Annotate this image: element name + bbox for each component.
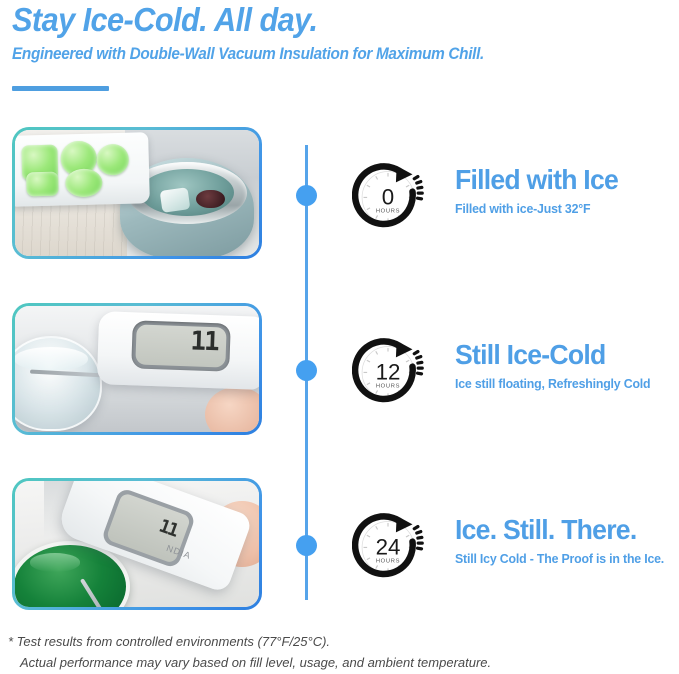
page-subtitle: Engineered with Double-Wall Vacuum Insul… bbox=[12, 44, 621, 64]
timeline-dot-2 bbox=[296, 360, 317, 381]
timer-clock-icon: 12 HOURS bbox=[352, 335, 424, 407]
clock-hours-unit: HOURS bbox=[376, 559, 400, 565]
ice-cube bbox=[26, 171, 59, 196]
footer-disclaimer: * Test results from controlled environme… bbox=[8, 631, 668, 673]
photo-thermometer-glass: 11 bbox=[15, 306, 259, 432]
photo-ice-tray-tumbler bbox=[15, 130, 259, 256]
clock-hours-unit: HOURS bbox=[376, 384, 400, 390]
ice-cube-tray bbox=[15, 132, 150, 206]
header: Stay Ice-Cold. All day. Engineered with … bbox=[12, 2, 667, 64]
benefit-text-block: Filled with Ice Filled with ice-Just 32°… bbox=[455, 164, 679, 217]
clock-hours-unit: HOURS bbox=[376, 209, 400, 215]
photo-card-12-hours: 11 bbox=[12, 303, 262, 435]
benefit-title: Ice. Still. There. bbox=[455, 514, 679, 546]
benefit-title: Still Ice-Cold bbox=[455, 339, 679, 371]
timeline-dot-1 bbox=[296, 185, 317, 206]
benefit-title: Filled with Ice bbox=[455, 164, 679, 196]
benefit-subtitle: Still Icy Cold - The Proof is in the Ice… bbox=[455, 550, 679, 567]
disclaimer-line-2: Actual performance may vary based on fil… bbox=[8, 652, 668, 673]
page-title: Stay Ice-Cold. All day. bbox=[12, 2, 621, 38]
benefit-subtitle: Filled with ice-Just 32°F bbox=[455, 200, 679, 217]
ice-cube bbox=[96, 144, 130, 176]
clock-hours-value: 0 bbox=[382, 185, 394, 210]
timer-clock-icon: 0 HOURS bbox=[352, 160, 424, 232]
clock-hours-value: 12 bbox=[376, 360, 401, 385]
benefit-subtitle: Ice still floating, Refreshingly Cold bbox=[455, 375, 679, 392]
photo-thermometer-green-drink: 11 NDIA bbox=[15, 481, 259, 607]
ice-cube bbox=[65, 169, 103, 198]
accent-underline-bar bbox=[12, 86, 109, 91]
benefit-text-block: Still Ice-Cold Ice still floating, Refre… bbox=[455, 339, 679, 392]
timeline-dot-3 bbox=[296, 535, 317, 556]
thermometer-screen-bezel: 11 bbox=[131, 321, 230, 372]
clock-hours-value: 24 bbox=[376, 535, 401, 560]
benefit-text-block: Ice. Still. There. Still Icy Cold - The … bbox=[455, 514, 679, 567]
thermometer-lcd: 11 bbox=[135, 325, 226, 368]
timer-clock-icon: 24 HOURS bbox=[352, 510, 424, 582]
ice-chunk bbox=[159, 187, 190, 213]
lcd-reading: 11 bbox=[190, 329, 218, 356]
lcd-reading: 11 bbox=[156, 515, 180, 541]
photo-card-24-hours: 11 NDIA bbox=[12, 478, 262, 610]
liquid-reflection bbox=[196, 190, 224, 209]
tumbler-interior bbox=[140, 169, 234, 216]
disclaimer-line-1: * Test results from controlled environme… bbox=[8, 631, 668, 652]
photo-card-0-hours bbox=[12, 127, 262, 259]
